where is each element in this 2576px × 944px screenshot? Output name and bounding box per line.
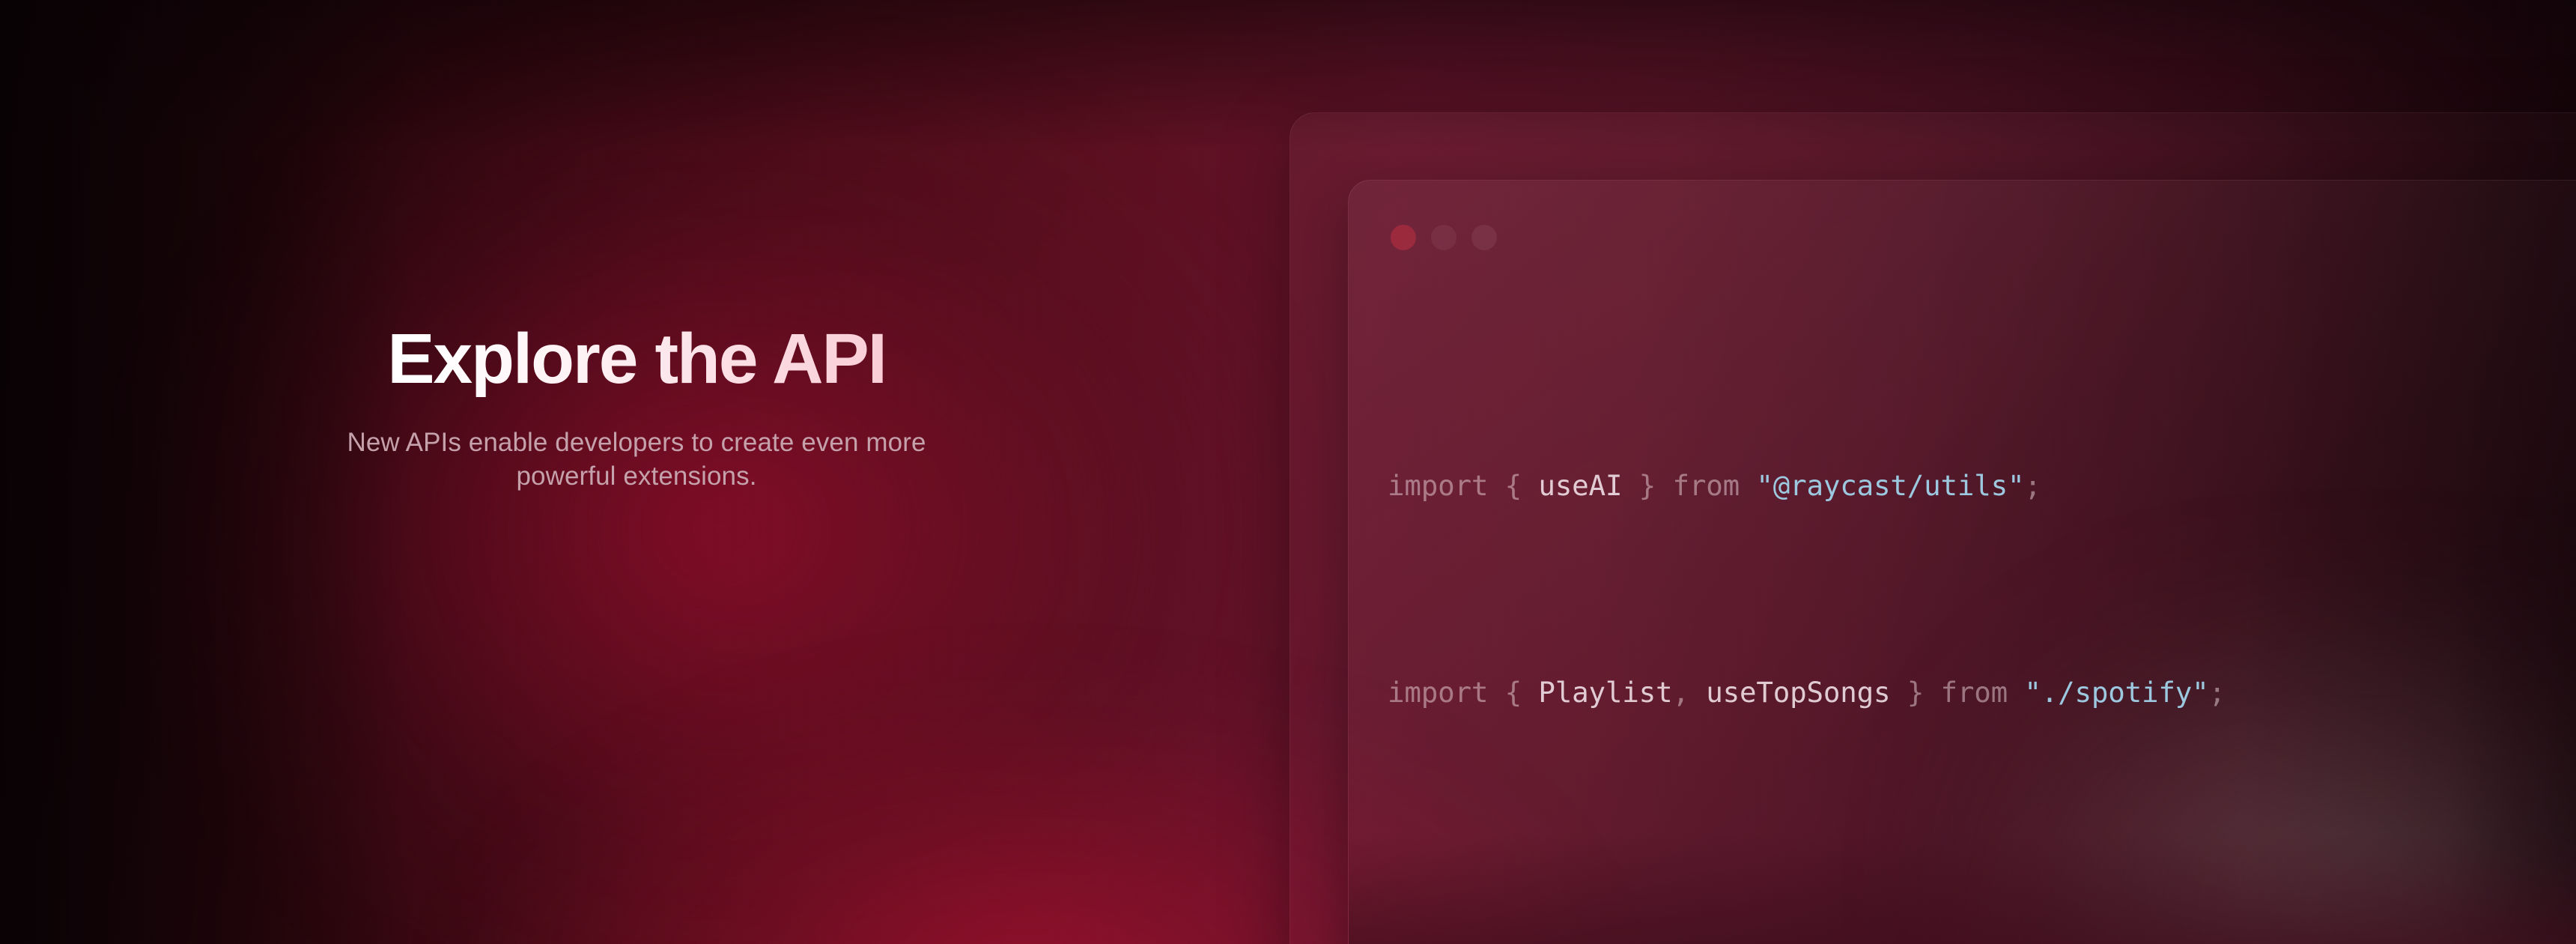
code-token-space <box>2008 676 2024 709</box>
code-line-1: import { useAI } from "@raycast/utils"; <box>1388 460 2576 512</box>
promo-banner: Explore the API New APIs enable develope… <box>0 0 2576 944</box>
code-token-punct: { <box>1488 469 1538 502</box>
code-token-useTopSongs: useTopSongs <box>1706 676 1890 709</box>
code-token-space <box>1740 469 1756 502</box>
minimize-icon[interactable] <box>1431 225 1456 250</box>
code-token-semicolon: ; <box>2024 469 2041 502</box>
code-token-punct: } <box>1622 469 1672 502</box>
code-token-import: import <box>1388 676 1488 709</box>
code-token-useAI: useAI <box>1538 469 1622 502</box>
page-title: Explore the API <box>0 322 1273 397</box>
close-icon[interactable] <box>1391 225 1416 250</box>
code-token-Playlist: Playlist <box>1538 676 1672 709</box>
maximize-icon[interactable] <box>1471 225 1497 250</box>
page-subtitle: New APIs enable developers to create eve… <box>326 426 947 494</box>
code-token-module-path: "./spotify" <box>2024 676 2208 709</box>
code-line-blank <box>1388 874 2576 899</box>
code-token-from: from <box>1940 676 2008 709</box>
code-token-punct: } <box>1890 676 1940 709</box>
code-window: import { useAI } from "@raycast/utils"; … <box>1348 180 2576 944</box>
code-token-import: import <box>1388 469 1488 502</box>
code-token-punct: { <box>1488 676 1538 709</box>
code-token-comma: , <box>1672 676 1706 709</box>
window-traffic-lights <box>1391 225 1497 250</box>
code-block[interactable]: import { useAI } from "@raycast/utils"; … <box>1388 305 2576 944</box>
code-line-2: import { Playlist, useTopSongs } from ".… <box>1388 667 2576 718</box>
code-token-from: from <box>1672 469 1740 502</box>
hero-copy: Explore the API New APIs enable develope… <box>0 322 1273 494</box>
code-token-module-path: "@raycast/utils" <box>1756 469 2024 502</box>
code-token-semicolon: ; <box>2209 676 2226 709</box>
